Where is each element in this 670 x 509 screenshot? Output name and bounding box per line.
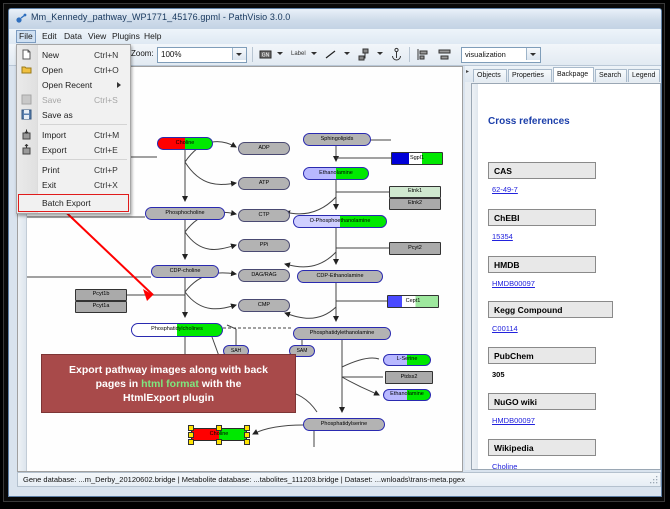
menu-item-label: Save as — [42, 110, 73, 120]
xref-source-cas: CAS — [488, 162, 596, 179]
data-node-dropdown-icon[interactable] — [277, 52, 283, 55]
node-label: Phosphatidylcholines — [151, 327, 203, 333]
node-ptdss2[interactable]: Ptdss2 — [385, 371, 433, 384]
line-tool-icon[interactable] — [323, 47, 338, 62]
node-label: Phosphocholine — [165, 211, 204, 217]
status-text: Gene database: ...m_Derby_20120602.bridg… — [23, 475, 465, 484]
selection-handle[interactable] — [188, 439, 194, 445]
import-icon — [21, 129, 32, 140]
new-document-icon — [21, 49, 32, 60]
menu-item-exit[interactable]: Exit Ctrl+X — [17, 177, 130, 192]
pathvisio-app-icon — [15, 13, 27, 25]
chevron-down-icon — [236, 53, 242, 56]
callout-text: Export pathway images along with back pa… — [63, 363, 274, 405]
node-pcyt1b[interactable]: Pcyt1b — [75, 289, 127, 301]
backpage-content: Cross references CAS 62-49-7 ChEBI 15354… — [479, 84, 660, 469]
xref-source-pubchem: PubChem — [488, 347, 596, 364]
label-dropdown-icon[interactable] — [311, 52, 317, 55]
node-etnk1[interactable]: Etnk1 — [389, 186, 441, 198]
node-label: Choline — [210, 432, 229, 438]
node-label: PPi — [260, 243, 269, 249]
xref-source-label: CAS — [494, 166, 512, 176]
menu-item-label: Open — [42, 65, 63, 75]
node-atp[interactable]: ATP — [238, 177, 290, 190]
node-adp[interactable]: ADP — [238, 142, 290, 155]
node-label: Ethanolamine — [390, 392, 424, 398]
window-title: Mm_Kennedy_pathway_WP1771_45176.gpml - P… — [31, 12, 290, 22]
menu-item-save-as[interactable]: Save as — [17, 107, 130, 122]
menu-item-save: Save Ctrl+S — [17, 92, 130, 107]
menu-item-accel: Ctrl+N — [94, 50, 118, 60]
menu-item-open-recent[interactable]: Open Recent — [17, 77, 130, 92]
menu-view[interactable]: View — [85, 31, 109, 42]
callout-line2-post: with the — [199, 378, 242, 390]
zoom-dropdown-button[interactable] — [232, 48, 246, 60]
xref-source-hmdb: HMDB — [488, 256, 596, 273]
file-menu-popup[interactable]: New Ctrl+N Open Ctrl+O Open Recent Save … — [16, 44, 131, 214]
xref-value-kegg[interactable]: C00114 — [492, 324, 518, 333]
node-label: L-Serine — [397, 357, 418, 363]
menu-item-label: Print — [42, 165, 59, 175]
xref-source-label: ChEBI — [494, 213, 520, 223]
selection-handle[interactable] — [216, 425, 222, 431]
node-cdp-choline[interactable]: CDP-choline — [151, 265, 219, 278]
tab-search[interactable]: Search — [595, 69, 627, 82]
cross-references-heading: Cross references — [488, 116, 570, 127]
node-label: Cept1 — [406, 299, 421, 305]
data-node-tool-icon[interactable]: GN — [258, 47, 273, 62]
node-cmp[interactable]: CMP — [238, 299, 290, 312]
node-sphingolipids[interactable]: Sphingolipids — [303, 133, 371, 146]
node-label: DAG/RAG — [251, 273, 276, 279]
menu-item-label: Batch Export — [42, 198, 91, 208]
xref-source-kegg: Kegg Compound — [488, 301, 613, 318]
xref-value-nugo[interactable]: HMDB00097 — [492, 416, 535, 425]
node-label: Etnk2 — [408, 201, 422, 207]
selection-handle[interactable] — [244, 425, 250, 431]
selection-handle[interactable] — [244, 439, 250, 445]
chevron-down-icon — [530, 53, 536, 56]
line-dropdown-icon[interactable] — [344, 52, 350, 55]
interaction-tool-icon[interactable] — [356, 47, 371, 62]
toolbar-separator — [252, 47, 253, 62]
xref-value-pubchem: 305 — [492, 370, 505, 379]
node-cept1[interactable]: Cept1 — [387, 295, 439, 308]
node-label: Ethanolamine — [319, 171, 353, 177]
xref-source-label: Kegg Compound — [494, 305, 562, 315]
xref-source-label: PubChem — [494, 351, 534, 361]
align-center-tool-icon[interactable] — [437, 47, 452, 62]
node-cdp-ethanolamine[interactable]: CDP-Ethanolamine — [297, 270, 383, 283]
menu-file[interactable]: File — [16, 30, 36, 43]
menu-divider — [40, 124, 127, 125]
node-label: Etnk1 — [408, 189, 422, 195]
node-l-serine[interactable]: L-Serine — [383, 354, 431, 366]
node-label: Sphingolipids — [321, 137, 354, 143]
window-titlebar: Mm_Kennedy_pathway_WP1771_45176.gpml - P… — [9, 9, 661, 30]
visualization-dropdown-button[interactable] — [526, 48, 540, 60]
zoom-value: 100% — [161, 50, 181, 59]
node-label: Pcyt2 — [408, 246, 422, 252]
tab-legend[interactable]: Legend — [628, 69, 660, 82]
menu-item-accel: Ctrl+P — [94, 165, 118, 175]
node-label: CDP-Ethanolamine — [316, 274, 363, 280]
callout-line2-pre: pages in — [96, 378, 142, 390]
node-label: Phosphatidylethanolamine — [310, 331, 375, 337]
menu-item-open[interactable]: Open Ctrl+O — [17, 62, 130, 77]
callout-line1: Export pathway images along with back — [69, 364, 268, 376]
menu-help[interactable]: Help — [141, 31, 164, 42]
backpage-scroll-gutter[interactable] — [472, 84, 478, 469]
node-label: ATP — [259, 181, 269, 187]
menu-item-accel: Ctrl+O — [94, 65, 119, 75]
menu-item-export[interactable]: Export Ctrl+E — [17, 142, 130, 157]
menu-edit[interactable]: Edit — [39, 31, 60, 42]
menubar: File Edit Data View Plugins Help — [9, 29, 661, 45]
node-etnk2[interactable]: Etnk2 — [389, 198, 441, 210]
node-pcyt2[interactable]: Pcyt2 — [389, 242, 441, 255]
node-label: Choline — [176, 141, 195, 147]
node-label: CMP — [258, 303, 270, 309]
menu-item-label: Open Recent — [42, 80, 92, 90]
callout-banner: Export pathway images along with back pa… — [41, 354, 296, 413]
toolbar-separator — [409, 47, 410, 62]
zoom-label: Zoom: — [131, 49, 154, 58]
statusbar: Gene database: ...m_Derby_20120602.bridg… — [17, 472, 661, 487]
label-tool-label[interactable]: Label — [291, 51, 306, 57]
tab-objects[interactable]: Objects — [473, 69, 507, 82]
node-pcyt1a[interactable]: Pcyt1a — [75, 301, 127, 313]
selection-handle[interactable] — [244, 432, 250, 438]
menu-plugins[interactable]: Plugins — [109, 31, 143, 42]
selection-handle[interactable] — [188, 425, 194, 431]
menu-data[interactable]: Data — [61, 31, 85, 42]
align-left-tool-icon[interactable] — [415, 47, 430, 62]
save-disk-icon — [21, 94, 32, 105]
node-ethanolamine-2[interactable]: Ethanolamine — [383, 389, 431, 401]
node-label: ADP — [258, 146, 269, 152]
node-label: Pcyt1b — [93, 292, 110, 298]
node-label: Sgpl1 — [410, 156, 424, 162]
xref-value-chebi[interactable]: 15354 — [492, 232, 513, 241]
pathvisio-application-window: Mm_Kennedy_pathway_WP1771_45176.gpml - P… — [8, 8, 662, 497]
menu-item-label: Export — [42, 145, 67, 155]
node-label: SAM — [297, 349, 308, 354]
menu-item-accel: Ctrl+M — [94, 130, 119, 140]
node-ppi[interactable]: PPi — [238, 239, 290, 252]
desktop-background: Mm_Kennedy_pathway_WP1771_45176.gpml - P… — [0, 0, 670, 509]
tab-properties[interactable]: Properties — [508, 69, 552, 82]
selection-handle[interactable] — [188, 432, 194, 438]
resize-grip-icon[interactable] — [650, 476, 658, 484]
menu-item-import[interactable]: Import Ctrl+M — [17, 127, 130, 142]
visualization-combobox[interactable]: visualization — [461, 47, 541, 63]
xref-value-hmdb[interactable]: HMDB00097 — [492, 279, 535, 288]
svg-text:GN: GN — [262, 53, 270, 59]
callout-line2-highlight: html format — [141, 378, 199, 390]
xref-source-nugo: NuGO wiki — [488, 393, 596, 410]
menu-item-label: Import — [42, 130, 66, 140]
node-phosphatidylcholines[interactable]: Phosphatidylcholines — [131, 323, 223, 337]
xref-value-cas[interactable]: 62-49-7 — [492, 185, 518, 194]
xref-source-label: Wikipedia — [494, 443, 534, 453]
menu-item-label: Exit — [42, 180, 56, 190]
selection-handle[interactable] — [216, 439, 222, 445]
menu-item-label: Save — [42, 95, 61, 105]
xref-source-chebi: ChEBI — [488, 209, 596, 226]
open-folder-icon — [21, 64, 32, 75]
node-label: SAH — [231, 349, 241, 354]
node-phosphocholine[interactable]: Phosphocholine — [145, 207, 225, 220]
node-ethanolamine[interactable]: Ethanolamine — [303, 167, 369, 180]
node-ctp[interactable]: CTP — [238, 209, 290, 222]
anchor-tool-icon[interactable] — [389, 47, 404, 62]
submenu-arrow-icon — [117, 82, 121, 88]
backpage-panel: Cross references CAS 62-49-7 ChEBI 15354… — [471, 83, 661, 470]
node-label: O-Phosphoethanolamine — [310, 219, 371, 225]
xref-source-label: NuGO wiki — [494, 397, 537, 407]
menu-item-batch-export[interactable]: Batch Export — [18, 194, 129, 212]
menu-item-accel: Ctrl+S — [94, 95, 118, 105]
side-panel: ▸ Objects Properties Backpage Search Leg… — [465, 66, 661, 470]
xref-source-wikipedia: Wikipedia — [488, 439, 596, 456]
menu-divider — [40, 159, 127, 160]
panel-collapse-arrow-icon[interactable]: ▸ — [466, 68, 469, 75]
node-phosphatidylserine[interactable]: Phosphatidylserine — [303, 418, 385, 431]
node-label: CDP-choline — [170, 269, 201, 275]
save-as-icon — [21, 109, 32, 120]
visualization-value: visualization — [465, 50, 506, 59]
menu-item-label: New — [42, 50, 59, 60]
node-label: Phosphatidylserine — [321, 422, 367, 428]
node-choline[interactable]: Choline — [157, 137, 213, 150]
export-icon — [21, 144, 32, 155]
menu-item-accel: Ctrl+E — [94, 145, 118, 155]
callout-line3: HtmlExport plugin — [123, 392, 214, 404]
xref-source-label: HMDB — [494, 260, 520, 270]
zoom-combobox[interactable]: 100% — [157, 47, 247, 63]
menu-item-accel: Ctrl+X — [94, 180, 118, 190]
xref-value-wikipedia[interactable]: Choline — [492, 462, 517, 470]
node-label: Pcyt1a — [93, 304, 110, 310]
tab-backpage[interactable]: Backpage — [553, 67, 594, 82]
node-sgpl1[interactable]: Sgpl1 — [391, 152, 443, 165]
node-label: Ptdss2 — [401, 375, 418, 381]
node-label: CTP — [259, 213, 270, 219]
side-panel-tabstrip: ▸ Objects Properties Backpage Search Leg… — [465, 66, 661, 82]
node-dag-rag[interactable]: DAG/RAG — [238, 269, 290, 282]
node-phosphatidylethanolamine[interactable]: Phosphatidylethanolamine — [293, 327, 391, 340]
menu-item-print[interactable]: Print Ctrl+P — [17, 162, 130, 177]
node-o-phosphoethanolamine[interactable]: O-Phosphoethanolamine — [293, 215, 387, 228]
interaction-dropdown-icon[interactable] — [377, 52, 383, 55]
menu-item-new[interactable]: New Ctrl+N — [17, 47, 130, 62]
